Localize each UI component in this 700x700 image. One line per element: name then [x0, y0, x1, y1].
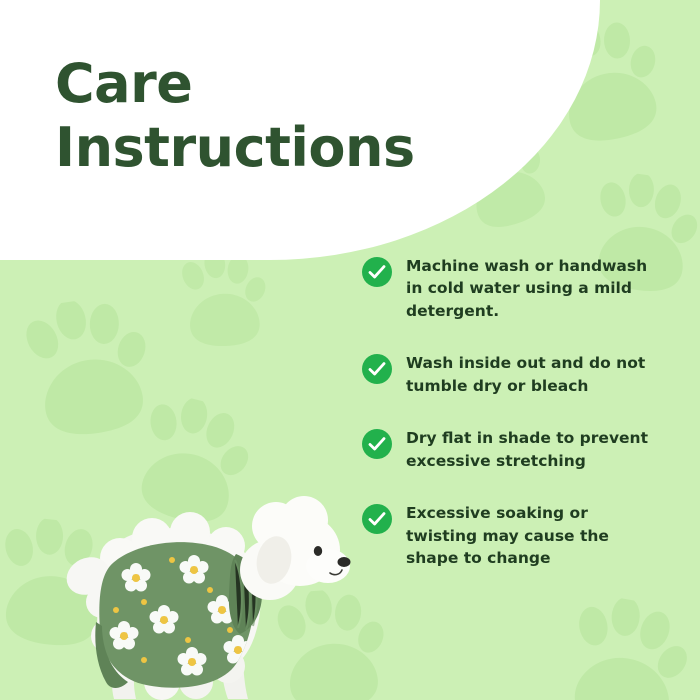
list-item: Wash inside out and do not tumble dry or… — [362, 352, 682, 397]
page-title-line-1: Care — [55, 52, 475, 116]
list-item-label: Machine wash or handwash in cold water u… — [406, 255, 664, 322]
list-item: Dry flat in shade to prevent excessive s… — [362, 427, 682, 472]
paw-print-icon — [173, 248, 272, 356]
check-circle-icon — [362, 257, 392, 287]
list-item: Excessive soaking or twisting may cause … — [362, 502, 682, 569]
list-item: Machine wash or handwash in cold water u… — [362, 255, 682, 322]
dog-wearing-green-floral-sweater-photo — [24, 450, 354, 700]
check-circle-icon — [362, 354, 392, 384]
care-instructions-page: Care Instructions Machine wash or handwa… — [0, 0, 700, 700]
list-item-label: Dry flat in shade to prevent excessive s… — [406, 427, 664, 472]
care-instructions-list: Machine wash or handwash in cold water u… — [362, 255, 682, 600]
list-item-label: Wash inside out and do not tumble dry or… — [406, 352, 664, 397]
page-title: Care Instructions — [55, 52, 475, 179]
paw-print-icon — [549, 590, 700, 700]
list-item-label: Excessive soaking or twisting may cause … — [406, 502, 664, 569]
check-circle-icon — [362, 429, 392, 459]
page-title-line-2: Instructions — [55, 116, 475, 180]
check-circle-icon — [362, 504, 392, 534]
